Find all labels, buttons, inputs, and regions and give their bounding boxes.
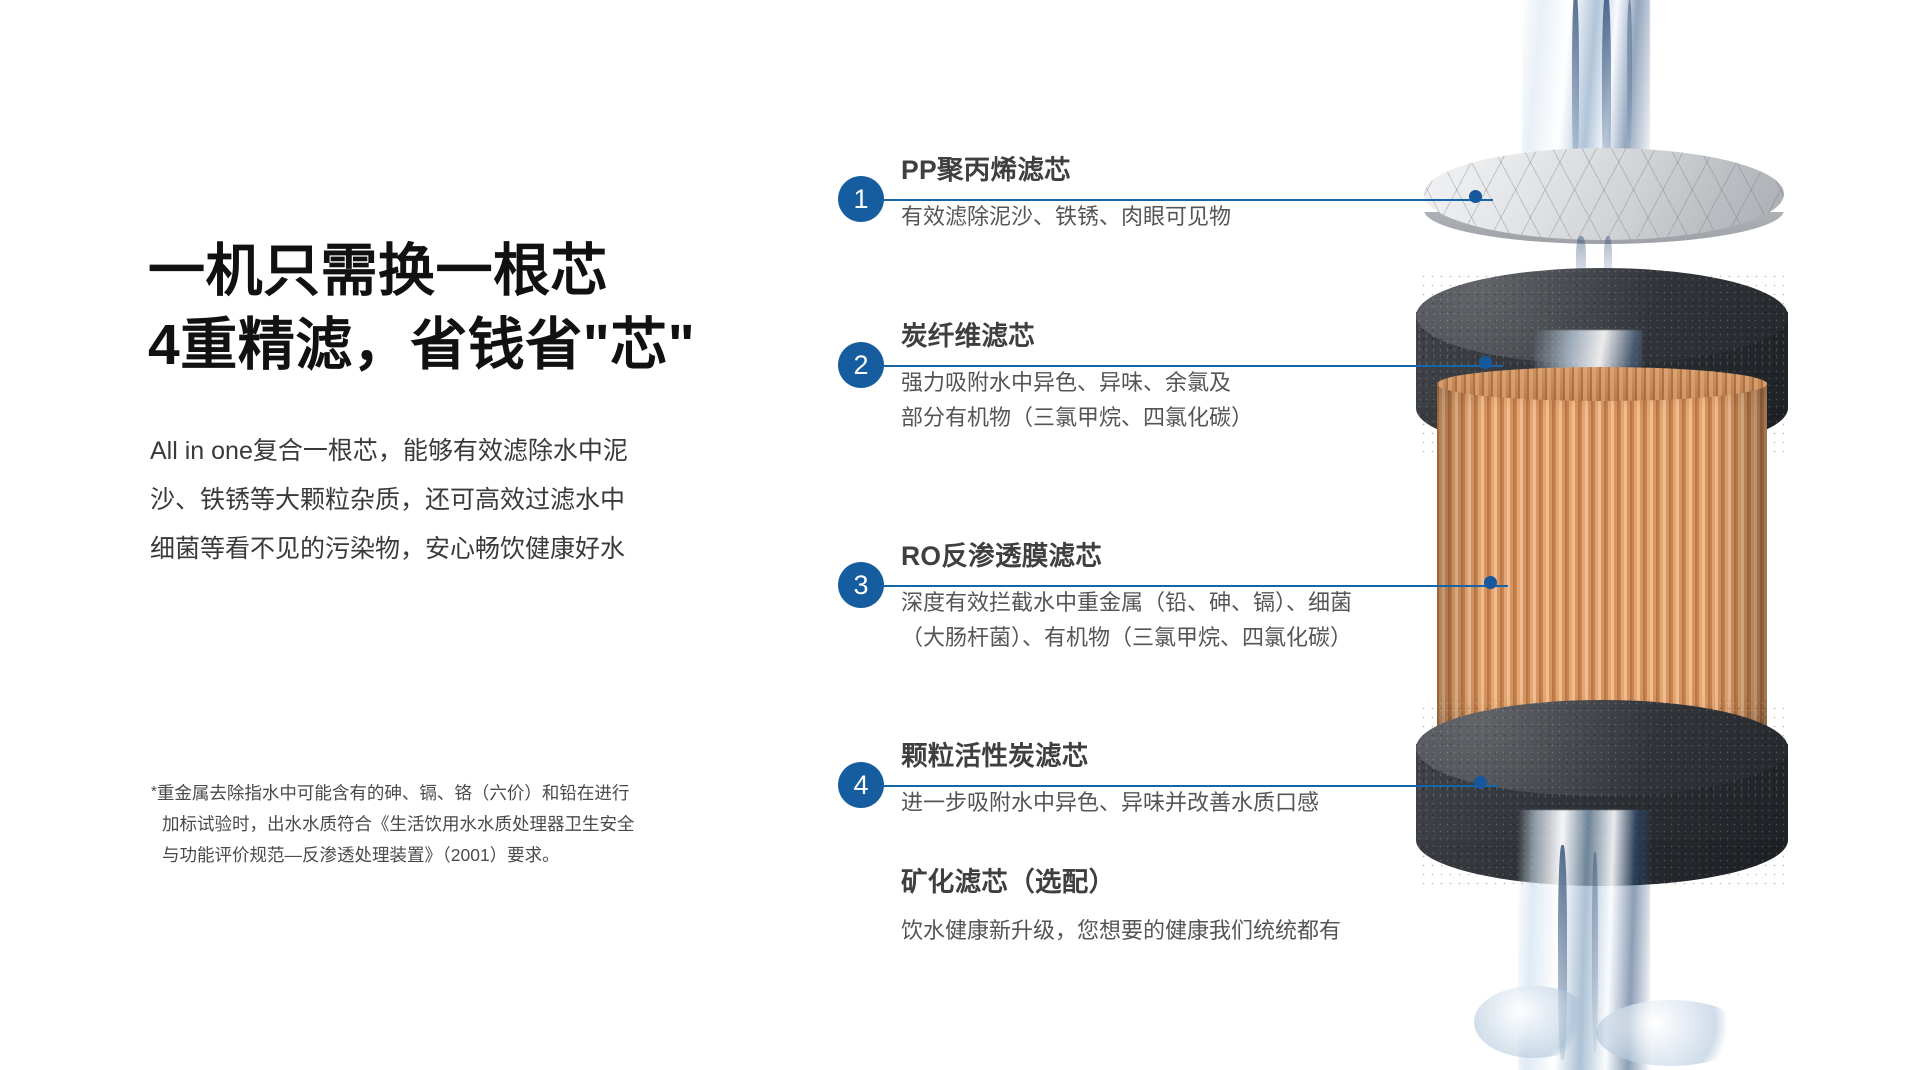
optional-filter-title: 矿化滤芯（选配） xyxy=(901,860,1561,899)
left-copy-panel: 一机只需换一根芯 4重精滤，省钱省"芯" All in one复合一根芯，能够有… xyxy=(148,0,788,1070)
lead-paragraph-line-1: All in one复合一根芯，能够有效滤除水中泥 xyxy=(150,427,750,476)
footnote-line-3: 与功能评价规范—反渗透处理装置》（2001）要求。 xyxy=(151,840,751,871)
callout-body-4: 颗粒活性炭滤芯 进一步吸附水中异色、异味并改善水质口感 xyxy=(901,740,1541,820)
water-streak-c xyxy=(1627,0,1632,150)
water-streak-a xyxy=(1572,0,1579,172)
footnote-disclaimer: *重金属去除指水中可能含有的砷、镉、铬（六价）和铅在进行 加标试验时，出水水质符… xyxy=(151,778,751,871)
callout-rule-4 xyxy=(863,785,1498,787)
headline-line-1: 一机只需换一根芯 xyxy=(148,234,695,308)
callout-desc-line: 进一步吸附水中异色、异味并改善水质口感 xyxy=(901,785,1541,820)
callout-title-2: 炭纤维滤芯 xyxy=(901,320,1541,353)
lead-paragraph-line-3: 细菌等看不见的污染物，安心畅饮健康好水 xyxy=(150,525,750,574)
callout-rule-2 xyxy=(863,365,1503,367)
callout-desc-1: 有效滤除泥沙、铁锈、肉眼可见物 xyxy=(901,199,1541,234)
leader-dot-3 xyxy=(1484,576,1497,589)
callout-desc-line: 强力吸附水中异色、异味、余氯及 xyxy=(901,365,1541,400)
callout-body-3: RO反渗透膜滤芯 深度有效拦截水中重金属（铅、砷、镉）、细菌 （大肠杆菌）、有机… xyxy=(901,540,1541,656)
callout-rule-3 xyxy=(863,585,1508,587)
callout-badge-4: 4 xyxy=(838,762,884,808)
callout-rule-1 xyxy=(863,199,1493,201)
callout-title-4: 颗粒活性炭滤芯 xyxy=(901,740,1541,773)
callout-badge-2: 2 xyxy=(838,342,884,388)
leader-dot-4 xyxy=(1474,776,1487,789)
footnote-line-1: *重金属去除指水中可能含有的砷、镉、铬（六价）和铅在进行 xyxy=(151,778,751,809)
water-splash-right xyxy=(1596,1000,1746,1066)
leader-dot-2 xyxy=(1479,356,1492,369)
callout-desc-4: 进一步吸附水中异色、异味并改善水质口感 xyxy=(901,785,1541,820)
callout-desc-2: 强力吸附水中异色、异味、余氯及 部分有机物（三氯甲烷、四氯化碳） xyxy=(901,365,1541,435)
footnote-line-2: 加标试验时，出水水质符合《生活饮用水水质处理器卫生安全 xyxy=(151,809,751,840)
lead-paragraph-line-2: 沙、铁锈等大颗粒杂质，还可高效过滤水中 xyxy=(150,476,750,525)
callout-body-1: PP聚丙烯滤芯 有效滤除泥沙、铁锈、肉眼可见物 xyxy=(901,154,1541,234)
callout-desc-line: （大肠杆菌）、有机物（三氯甲烷、四氯化碳） xyxy=(901,620,1541,655)
callout-badge-1: 1 xyxy=(838,176,884,222)
optional-filter-desc: 饮水健康新升级，您想要的健康我们统统都有 xyxy=(901,913,1561,945)
leader-dot-1 xyxy=(1469,190,1482,203)
headline-line-2: 4重精滤，省钱省"芯" xyxy=(148,308,695,382)
callout-body-2: 炭纤维滤芯 强力吸附水中异色、异味、余氯及 部分有机物（三氯甲烷、四氯化碳） xyxy=(901,320,1541,436)
optional-mineralization-block[interactable]: 矿化滤芯（选配） 饮水健康新升级，您想要的健康我们统统都有 xyxy=(901,860,1561,945)
callout-title-1: PP聚丙烯滤芯 xyxy=(901,154,1541,187)
callout-desc-line: 部分有机物（三氯甲烷、四氯化碳） xyxy=(901,400,1541,435)
callout-badge-3: 3 xyxy=(838,562,884,608)
callout-title-3: RO反渗透膜滤芯 xyxy=(901,540,1541,573)
footnote-line-1-text: 重金属去除指水中可能含有的砷、镉、铬（六价）和铅在进行 xyxy=(157,783,630,803)
callout-desc-line: 有效滤除泥沙、铁锈、肉眼可见物 xyxy=(901,199,1541,234)
callout-desc-3: 深度有效拦截水中重金属（铅、砷、镉）、细菌 （大肠杆菌）、有机物（三氯甲烷、四氯… xyxy=(901,585,1541,655)
page-title: 一机只需换一根芯 4重精滤，省钱省"芯" xyxy=(148,234,695,382)
callout-desc-line: 深度有效拦截水中重金属（铅、砷、镉）、细菌 xyxy=(901,585,1541,620)
lead-paragraph: All in one复合一根芯，能够有效滤除水中泥 沙、铁锈等大颗粒杂质，还可高… xyxy=(150,427,750,573)
